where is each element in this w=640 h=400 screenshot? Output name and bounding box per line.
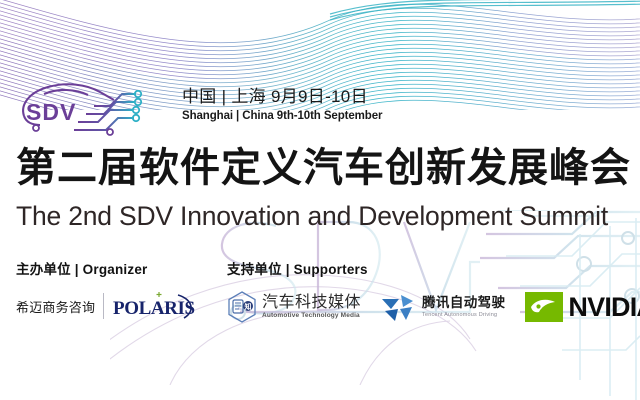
- polaris-logo: POLARIS: [112, 291, 198, 321]
- tencent-text: 腾讯自动驾驶 Tencent Autonomous Driving: [422, 296, 505, 318]
- supporter-name-cn-0: 汽车科技媒体: [262, 295, 361, 312]
- partners-section: 主办单位 | Organizer 希迈商务咨询 POLARIS 支持单位 |: [16, 258, 634, 333]
- organizer-logo-row: 希迈商务咨询 POLARIS: [16, 291, 198, 321]
- organizer-heading: 主办单位 | Organizer: [16, 258, 198, 278]
- event-date-block: 中国 | 上海 9月9日-10日 Shanghai | China 9th-10…: [166, 86, 382, 124]
- supporter-name-en-0: Automotive Technology Media: [262, 312, 361, 319]
- nvidia-wordmark-text: NVIDIA: [568, 292, 640, 322]
- sdv-car-circuit-logo: SDV: [14, 72, 150, 138]
- organizer-divider: [103, 293, 104, 319]
- page-title-cn: 第二届软件定义汽车创新发展峰会: [16, 148, 631, 188]
- nvidia-wordmark: NVIDIA.: [568, 294, 640, 321]
- supporters-column: 支持单位 | Supporters 知 汽车科技媒体 Automotive Te…: [227, 258, 640, 323]
- event-date-en: Shanghai | China 9th-10th September: [182, 110, 382, 124]
- automotive-tech-media-hexagon-icon: 知: [227, 291, 257, 323]
- banner-header: SDV 中国 | 上海 9月9日-10日 Shanghai | China 9t…: [14, 72, 382, 138]
- event-date-cn: 中国 | 上海 9月9日-10日: [182, 86, 382, 107]
- svg-text:知: 知: [244, 302, 252, 311]
- nvidia-eye-icon: [525, 292, 563, 322]
- organizer-company-cn: 希迈商务咨询: [16, 297, 95, 316]
- supporters-logo-row: 知 汽车科技媒体 Automotive Technology Media 腾讯自…: [227, 291, 640, 323]
- page-title-en: The 2nd SDV Innovation and Development S…: [16, 203, 608, 231]
- organizer-column: 主办单位 | Organizer 希迈商务咨询 POLARIS: [16, 258, 198, 321]
- event-banner: SDV 中国 | 上海 9月9日-10日 Shanghai | China 9t…: [0, 0, 640, 400]
- svg-text:SDV: SDV: [26, 99, 76, 125]
- tencent-pinwheel-icon: [379, 291, 417, 323]
- supporter-name-cn-1: 腾讯自动驾驶: [422, 296, 505, 310]
- supporters-heading: 支持单位 | Supporters: [227, 258, 640, 278]
- supporter-name-en-1: Tencent Autonomous Driving: [422, 312, 505, 318]
- automotive-tech-media-text: 汽车科技媒体 Automotive Technology Media: [262, 295, 361, 320]
- nvidia-logo: NVIDIA.: [525, 292, 640, 322]
- svg-text:POLARIS: POLARIS: [113, 298, 195, 319]
